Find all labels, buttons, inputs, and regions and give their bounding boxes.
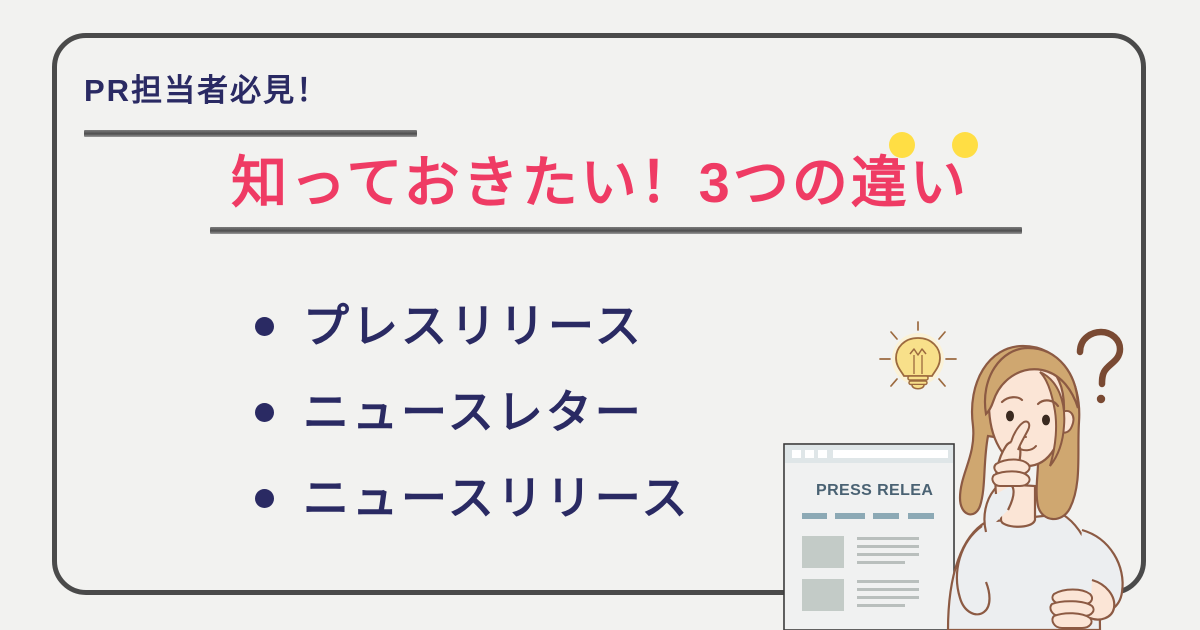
bullet-icon <box>255 317 274 336</box>
list-item: ニュースレター <box>255 369 690 455</box>
lightbulb-icon <box>880 322 956 389</box>
bullet-icon <box>255 489 274 508</box>
list-item-label: プレスリリース <box>303 303 644 349</box>
browser-mock-illustration: PRESS RELEA <box>784 444 954 630</box>
page-title: 知っておきたい！3つの違い <box>0 152 1200 214</box>
list-item-label: ニュースレター <box>303 389 644 435</box>
kicker-text: PR担当者必見！ <box>84 74 504 108</box>
list-item: ニュースリリース <box>255 455 690 541</box>
list-item-label: ニュースリリース <box>303 475 690 521</box>
headline-underline <box>210 227 1022 234</box>
poster-canvas: PR担当者必見！ 知っておきたい！3つの違い プレスリリース ニュースレター ニ… <box>0 0 1200 630</box>
thinking-woman-illustration <box>948 346 1123 630</box>
question-mark-icon <box>1080 332 1120 403</box>
press-release-title: PRESS RELEA <box>816 482 933 499</box>
bullet-icon <box>255 403 274 422</box>
kicker-wrapper: PR担当者必見！ <box>84 74 504 108</box>
illustration: PRESS RELEA <box>770 316 1190 630</box>
list-item: プレスリリース <box>255 283 690 369</box>
kicker-underline <box>84 130 417 137</box>
keyword-list: プレスリリース ニュースレター ニュースリリース <box>255 283 690 541</box>
